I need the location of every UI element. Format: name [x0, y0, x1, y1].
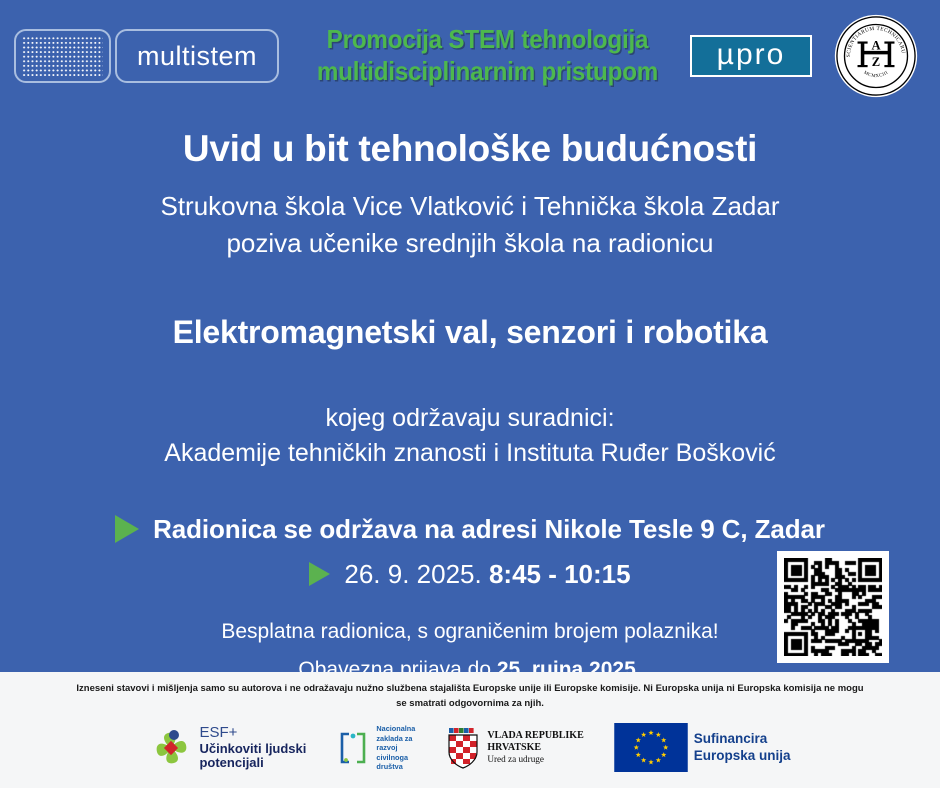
esf-text-block: ESF+ Učinkoviti ljudski potencijali — [199, 725, 306, 771]
eu-line2: Europska unija — [694, 748, 791, 764]
upro-logo-label: µpro — [717, 40, 786, 73]
address-row: Radionica se održava na adresi Nikole Te… — [28, 514, 912, 545]
qr-code[interactable] — [777, 551, 889, 663]
organizers-block: Strukovna škola Vice Vlatković i Tehničk… — [28, 188, 912, 262]
promo-title: Promocija STEM tehnologija multidiscipli… — [279, 24, 690, 87]
nzrcd-line3: razvoj — [376, 743, 415, 753]
esf-subtitle-line2: potencijali — [199, 756, 306, 771]
eu-flag-icon — [614, 723, 688, 772]
croatia-coat-of-arms-icon — [445, 726, 481, 770]
nzrcd-line5: društva — [376, 762, 415, 772]
nzrcd-logo: Nacionalna zaklada za razvoj civilnoga d… — [336, 724, 415, 772]
triangle-bullet-icon — [115, 515, 139, 543]
nzrcd-line4: civilnoga — [376, 753, 415, 763]
multistem-wordmark-box: multistem — [115, 29, 279, 83]
organizers-line2: poziva učenike srednjih škola na radioni… — [28, 225, 912, 262]
vlada-text-block: VLADA REPUBLIKE HRVATSKE Ured za udruge — [487, 730, 583, 765]
event-date: 26. 9. 2025. — [344, 559, 481, 589]
presenters-block: kojeg održavaju suradnici: Akademije teh… — [28, 401, 912, 472]
vlada-line3: Ured za udruge — [487, 754, 583, 765]
promo-title-line2: multidisciplinarnim pristupom — [305, 56, 670, 88]
address-text: Radionica se održava na adresi Nikole Te… — [153, 514, 825, 545]
hatz-seal-icon: ACADEMIA SCIENTIARUM TECHNICARUM CROATIC… — [834, 14, 918, 98]
multistem-wordmark: multistem — [137, 41, 257, 72]
vlada-line1: VLADA REPUBLIKE — [487, 730, 583, 742]
presenters-line2: Akademije tehničkih znanosti i Instituta… — [28, 436, 912, 472]
esf-pinwheel-icon — [149, 726, 193, 770]
poster-header: multistem Promocija STEM tehnologija mul… — [0, 0, 940, 112]
upro-logo: µpro — [690, 35, 812, 77]
header-logo-group: µpro ACADEMIA SCIENTIARUM TECHNICARUM CR… — [690, 14, 926, 98]
eu-cofunded-logo: Sufinancira Europska unija — [614, 723, 791, 772]
eu-text-block: Sufinancira Europska unija — [694, 731, 791, 764]
poster-footer: Izneseni stavovi i mišljenja samo su aut… — [0, 672, 940, 788]
organizers-line1: Strukovna škola Vice Vlatković i Tehničk… — [28, 188, 912, 225]
qr-code-image[interactable] — [784, 558, 882, 656]
esf-subtitle-line1: Učinkoviti ljudski — [199, 742, 306, 757]
svg-text:A: A — [871, 38, 880, 52]
multistem-grid-icon — [14, 29, 111, 83]
presenters-line1: kojeg održavaju suradnici: — [28, 401, 912, 437]
multistem-logo: multistem — [14, 29, 279, 83]
page-title: Uvid u bit tehnološke budućnosti — [28, 128, 912, 170]
eu-line1: Sufinancira — [694, 731, 791, 747]
esf-logo: ESF+ Učinkoviti ljudski potencijali — [149, 725, 306, 771]
eu-disclaimer: Izneseni stavovi i mišljenja samo su aut… — [75, 682, 865, 711]
nzrcd-line2: zaklada za — [376, 734, 415, 744]
workshop-title: Elektromagnetski val, senzori i robotika — [28, 314, 912, 351]
event-time: 8:45 - 10:15 — [489, 559, 631, 589]
vlada-logo: VLADA REPUBLIKE HRVATSKE Ured za udruge — [445, 726, 583, 770]
svg-text:Z: Z — [872, 55, 880, 69]
datetime-text: 26. 9. 2025. 8:45 - 10:15 — [344, 559, 630, 590]
footer-logo-group: ESF+ Učinkoviti ljudski potencijali Naci… — [149, 723, 790, 772]
nzrcd-brackets-icon — [336, 727, 370, 769]
esf-title: ESF+ — [199, 725, 306, 742]
multistem-dot-matrix — [22, 36, 103, 76]
nzrcd-text-block: Nacionalna zaklada za razvoj civilnoga d… — [376, 724, 415, 772]
triangle-bullet-icon — [309, 562, 330, 586]
promo-title-line1: Promocija STEM tehnologija — [305, 24, 670, 56]
nzrcd-line1: Nacionalna — [376, 724, 415, 734]
vlada-line2: HRVATSKE — [487, 742, 583, 754]
